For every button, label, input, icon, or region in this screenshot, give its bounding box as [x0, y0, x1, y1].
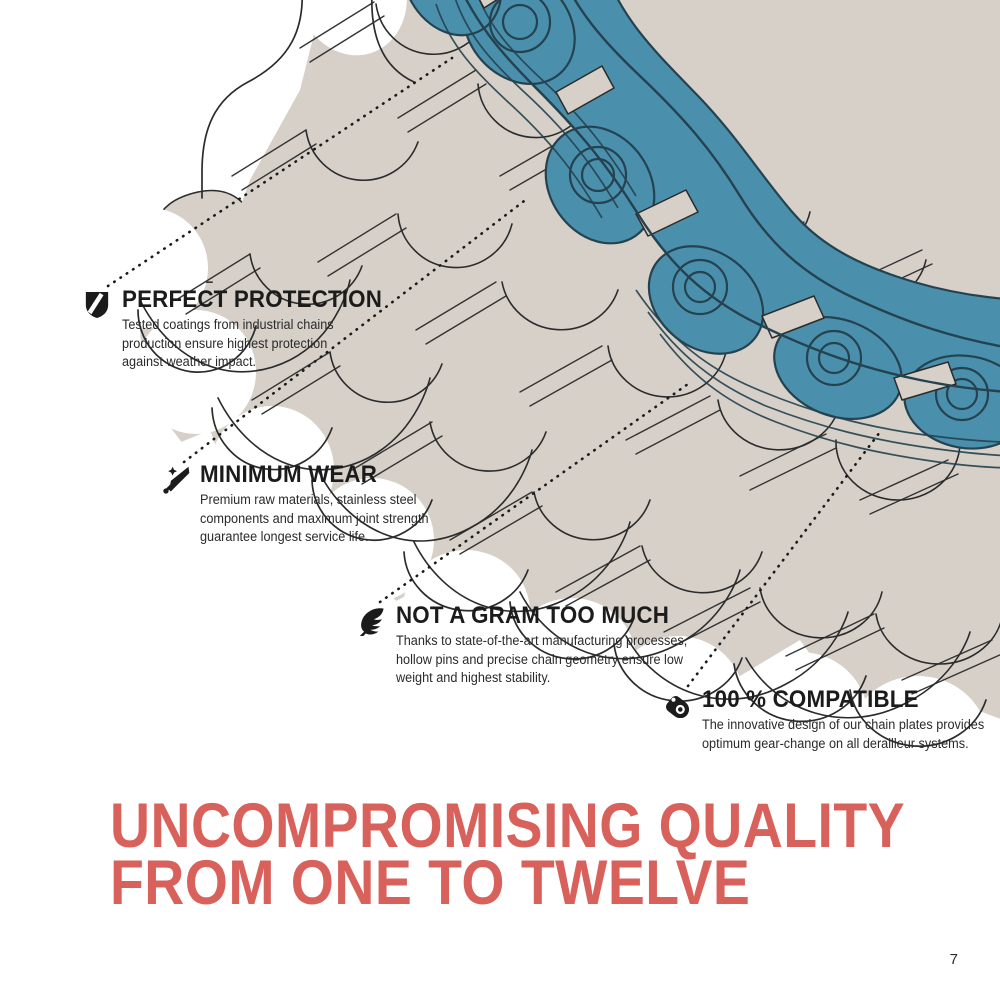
leader-compatible [688, 432, 880, 686]
shield-icon [84, 290, 114, 324]
headline-line-2: FROM ONE TO TWELVE [110, 855, 905, 912]
callout-title: MINIMUM WEAR [200, 463, 426, 487]
callout-body: Premium raw materials, stainless steel c… [200, 491, 429, 547]
callout-title: 100 % COMPATIBLE [702, 688, 981, 712]
feather-icon [358, 606, 388, 640]
page-root: PERFECT PROTECTION Tested coatings from … [0, 0, 1000, 1000]
callout-body: Thanks to state-of-the-art manufacturing… [396, 632, 687, 688]
callout-perfect-protection: PERFECT PROTECTION Tested coatings from … [84, 288, 402, 372]
page-headline: UNCOMPROMISING QUALITY FROM ONE TO TWELV… [110, 798, 905, 912]
callout-title: NOT A GRAM TOO MUCH [396, 604, 684, 628]
leader-lines [108, 58, 880, 686]
chain-link-icon [664, 690, 694, 724]
callout-title: PERFECT PROTECTION [122, 288, 382, 312]
callout-body: The innovative design of our chain plate… [702, 716, 984, 753]
callout-100-percent-compatible: 100 % COMPATIBLE The innovative design o… [664, 688, 1000, 753]
leader-protection [108, 58, 452, 286]
callout-body: Tested coatings from industrial chains p… [122, 316, 385, 372]
callout-not-a-gram-too-much: NOT A GRAM TOO MUCH Thanks to state-of-t… [358, 604, 706, 688]
headline-line-1: UNCOMPROMISING QUALITY [110, 798, 905, 855]
sword-sparkle-icon [162, 465, 192, 499]
page-number: 7 [950, 951, 958, 968]
callout-minimum-wear: MINIMUM WEAR Premium raw materials, stai… [162, 463, 443, 547]
bicycle-chain [383, 0, 1000, 468]
